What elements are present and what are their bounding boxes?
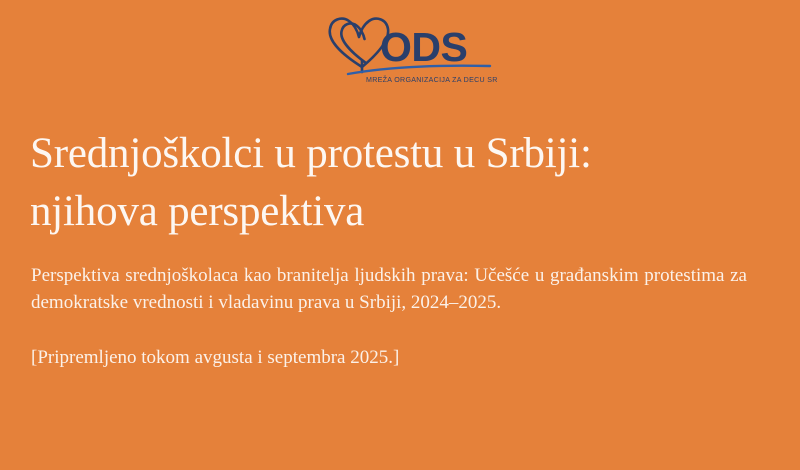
mods-logo: ODS MREŽA ORGANIZACIJA ZA DECU SRBIJE [318, 6, 498, 84]
logo-tagline: MREŽA ORGANIZACIJA ZA DECU SRBIJE [366, 75, 498, 84]
mods-logo-graphic: ODS MREŽA ORGANIZACIJA ZA DECU SRBIJE [318, 6, 498, 84]
subtitle-description: Perspektiva srednjoškolaca kao branitelj… [31, 262, 747, 316]
page-title: Srednjoškolci u protestu u Srbiji: njiho… [30, 125, 760, 241]
preparation-note: [Pripremljeno tokom avgusta i septembra … [31, 344, 747, 371]
title-slide: ODS MREŽA ORGANIZACIJA ZA DECU SRBIJE Sr… [0, 0, 800, 470]
logo-wordmark: ODS [380, 24, 467, 70]
subtitle-block: Perspektiva srednjoškolaca kao branitelj… [31, 262, 747, 371]
